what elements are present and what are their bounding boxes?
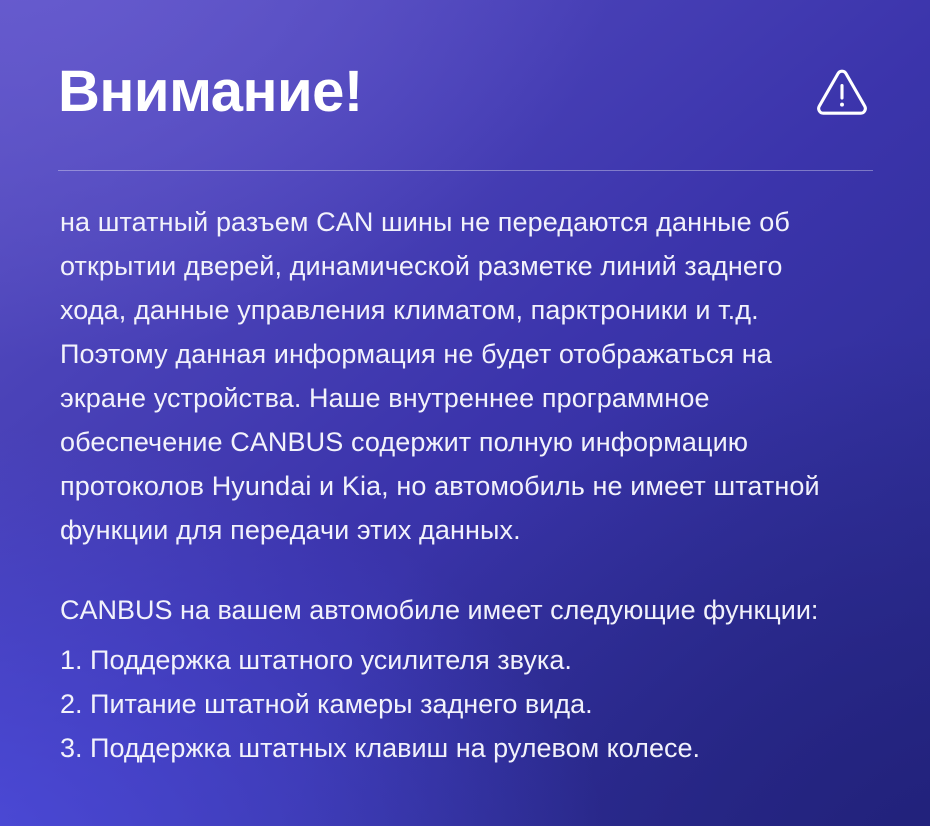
body-line: экране устройства. Наше внутреннее прогр… — [60, 376, 880, 420]
body-paragraph: на штатный разъем CAN шины не передаются… — [60, 200, 880, 552]
functions-block: CANBUS на вашем автомобиле имеет следующ… — [60, 588, 890, 770]
functions-list: 1. Поддержка штатного усилителя звука. 2… — [60, 638, 890, 770]
list-item: 3. Поддержка штатных клавиш на рулевом к… — [60, 726, 890, 770]
body-line: функции для передачи этих данных. — [60, 508, 880, 552]
list-item-label: Питание штатной камеры заднего вида. — [90, 689, 593, 719]
list-item-label: Поддержка штатного усилителя звука. — [90, 645, 572, 675]
list-item: 1. Поддержка штатного усилителя звука. — [60, 638, 890, 682]
list-item: 2. Питание штатной камеры заднего вида. — [60, 682, 890, 726]
page-title: Внимание! — [58, 61, 363, 123]
notice-body: на штатный разъем CAN шины не передаются… — [60, 200, 880, 552]
list-item-label: Поддержка штатных клавиш на рулевом коле… — [90, 733, 700, 763]
body-line: протоколов Hyundai и Kia, но автомобиль … — [60, 464, 880, 508]
list-item-number: 1. — [60, 645, 83, 675]
body-line: хода, данные управления климатом, парктр… — [60, 288, 880, 332]
body-line: на штатный разъем CAN шины не передаются… — [60, 200, 880, 244]
body-line: обеспечение CANBUS содержит полную инфор… — [60, 420, 880, 464]
functions-intro: CANBUS на вашем автомобиле имеет следующ… — [60, 588, 890, 632]
list-item-number: 3. — [60, 733, 83, 763]
body-line: Поэтому данная информация не будет отобр… — [60, 332, 880, 376]
notice-header: Внимание! — [58, 52, 873, 132]
body-line: открытии дверей, динамической разметке л… — [60, 244, 880, 288]
list-item-number: 2. — [60, 689, 83, 719]
header-divider — [58, 170, 873, 171]
notice-card: Внимание! на штатный разъем CAN шины не … — [0, 0, 930, 826]
warning-triangle-icon — [815, 65, 873, 119]
